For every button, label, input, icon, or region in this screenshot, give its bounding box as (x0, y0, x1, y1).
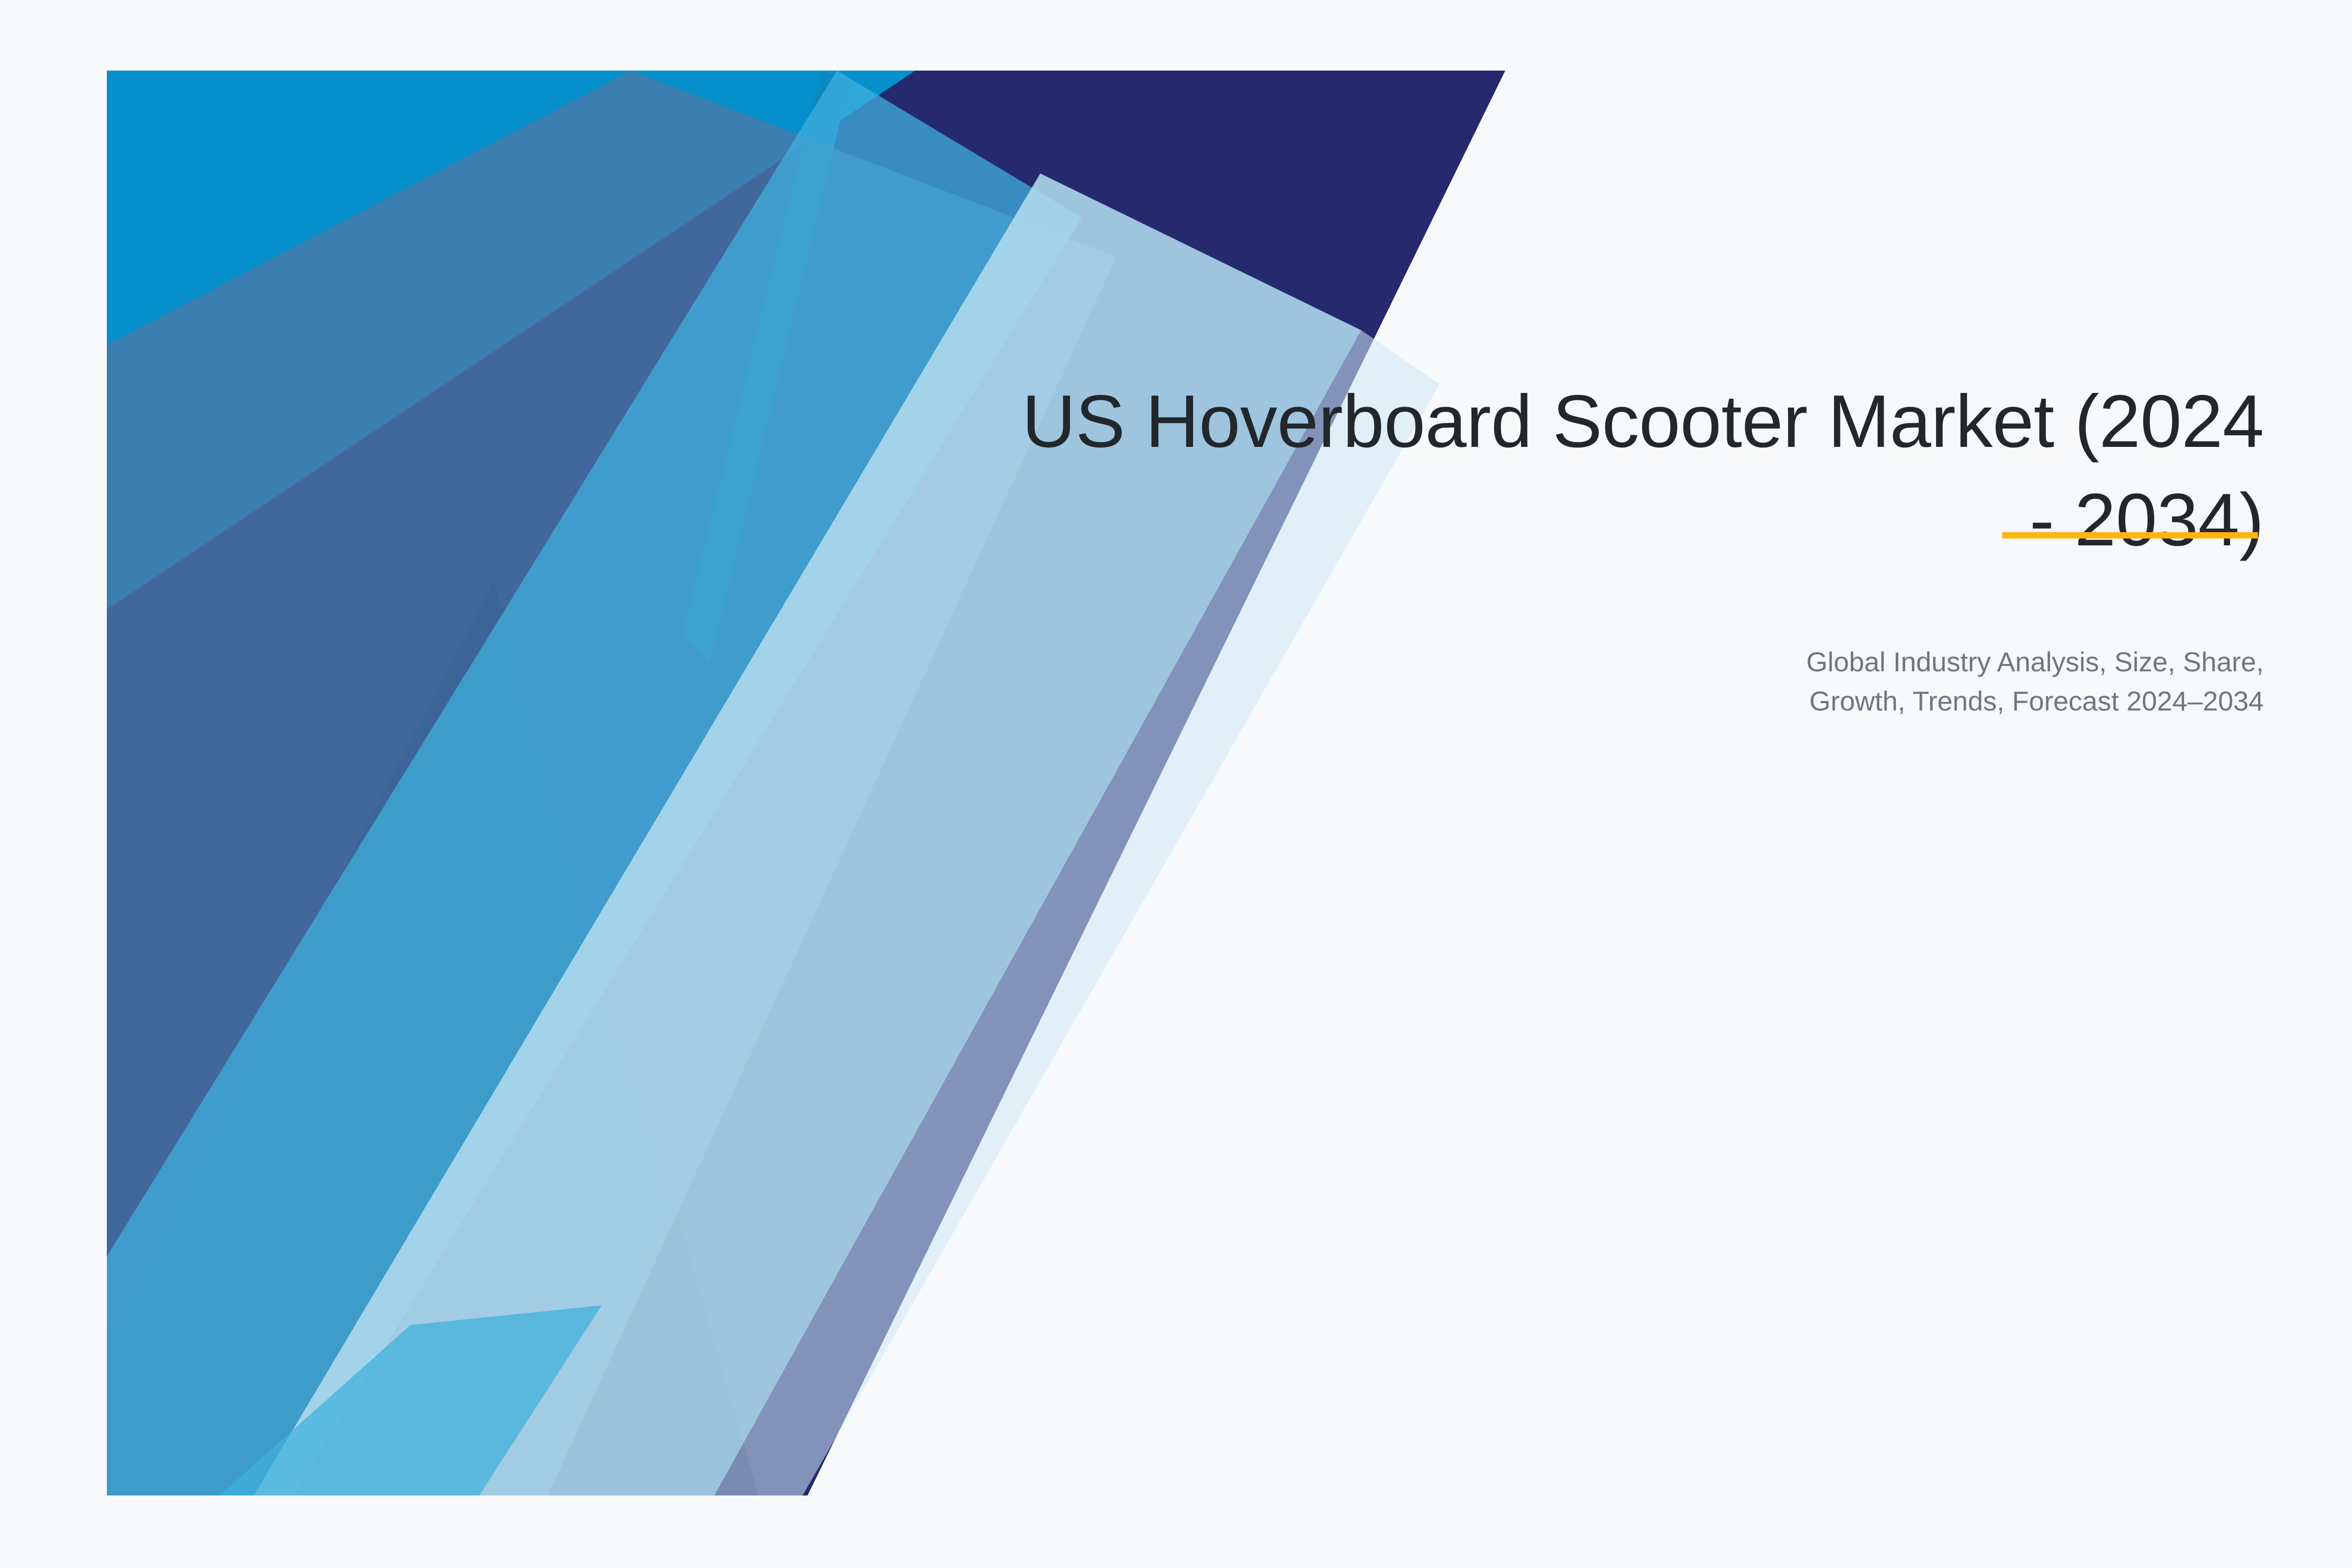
abstract-angular-blue-collage-svg (107, 71, 1505, 1495)
report-cover: US Hoverboard Scooter Market (2024 - 203… (0, 0, 2352, 1568)
cover-artwork (107, 71, 1505, 1495)
page-subtitle: Global Industry Analysis, Size, Share, G… (833, 569, 2264, 720)
page-title: US Hoverboard Scooter Market (2024 - 203… (833, 372, 2264, 569)
cover-text-block: US Hoverboard Scooter Market (2024 - 203… (833, 372, 2264, 720)
title-accent-rule (2002, 532, 2258, 539)
